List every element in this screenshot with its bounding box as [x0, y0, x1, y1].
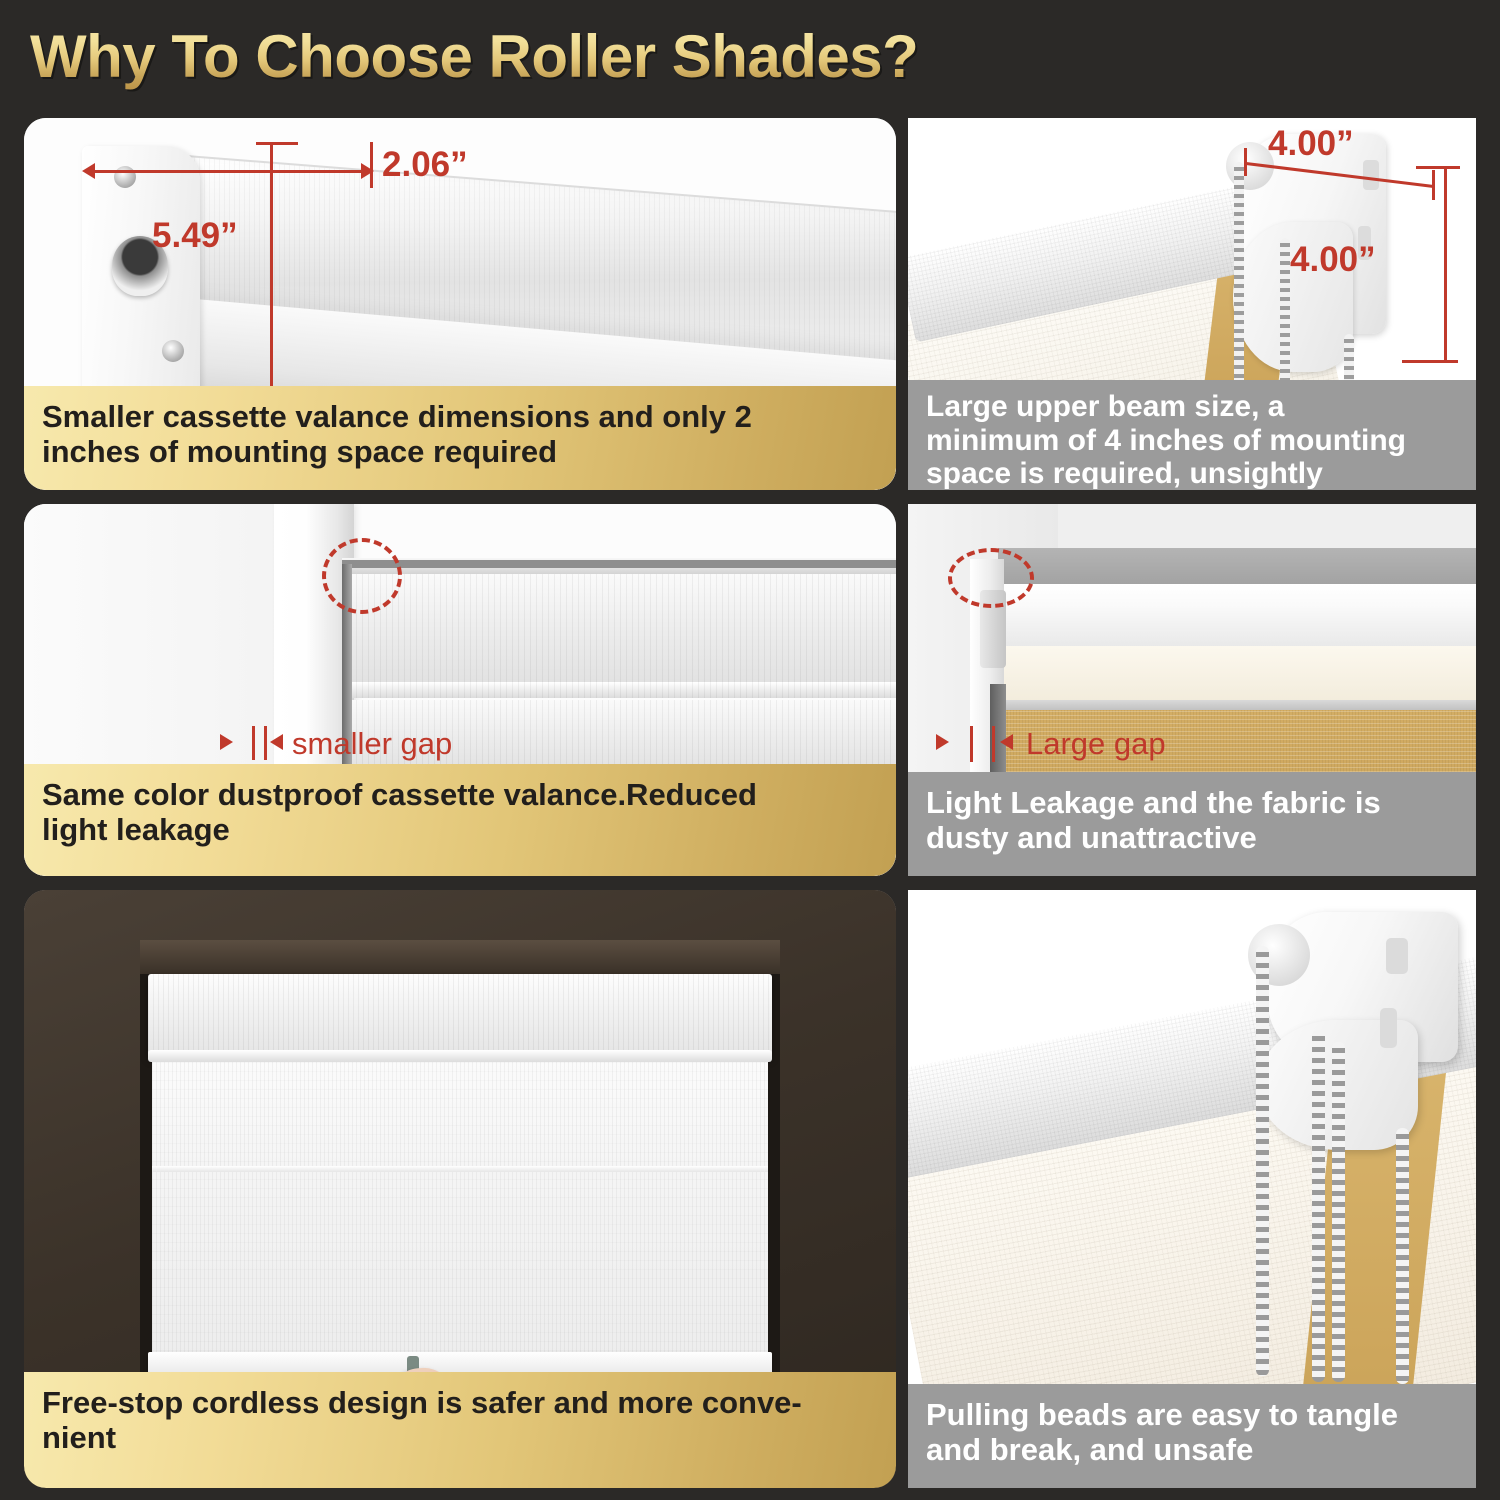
bracket-slot-icon: [1380, 1008, 1397, 1048]
gap-marker-left: [970, 726, 973, 762]
bead-chain: [1396, 1128, 1409, 1384]
panel-1-caption: Smaller cassette valance dimensions and …: [24, 386, 896, 490]
panel-3-caption-line-1: Same color dustproof cassette valance.Re…: [42, 778, 878, 813]
panel-4-caption-line-1: Light Leakage and the fabric is: [926, 786, 1458, 821]
shade-seam-line: [152, 1166, 768, 1172]
cassette-valance: [148, 974, 772, 1058]
panel-2-caption: Large upper beam size, a minimum of 4 in…: [908, 380, 1476, 490]
panel-5-caption-line-1: Free-stop cordless design is safer and m…: [42, 1386, 878, 1421]
shade-band: [350, 574, 896, 682]
panel-1-caption-line-1: Smaller cassette valance dimensions and …: [42, 400, 878, 435]
panel-6-caption: Pulling beads are easy to tangle and bre…: [908, 1384, 1476, 1488]
beam-height-label: 4.00”: [1290, 240, 1376, 280]
gap-callout-label: Large gap: [1026, 726, 1166, 762]
panel-5-card: Free-stop cordless design is safer and m…: [24, 890, 896, 1488]
gap-arrow-left-icon: [270, 734, 283, 750]
beam-height-dimension-line: [1444, 166, 1447, 362]
gap-callout-label: smaller gap: [292, 726, 452, 762]
panel-4-caption-line-2: dusty and unattractive: [926, 821, 1458, 856]
panel-5-caption-line-2: nient: [42, 1421, 878, 1456]
panel-4-caption: Light Leakage and the fabric is dusty an…: [908, 772, 1476, 876]
width-dimension-label: 2.06”: [382, 145, 468, 185]
shade-rail: [350, 682, 896, 698]
page-title: Why To Choose Roller Shades?: [30, 22, 918, 91]
width-dimension-line: [86, 170, 372, 173]
valance-shadow-line: [342, 560, 896, 568]
gap-marker-right: [992, 726, 995, 762]
gap-arrow-right-icon: [220, 734, 233, 750]
highlight-circle-icon: [322, 538, 402, 614]
panel-2-caption-line-3: space is required, unsightly: [926, 457, 1458, 490]
beam-width-tick-left: [1244, 148, 1247, 176]
panel-2-caption-line-2: minimum of 4 inches of mounting: [926, 424, 1458, 458]
screw-icon: [162, 340, 184, 362]
beam-height-tick-top: [1416, 166, 1460, 169]
panel-3-caption-line-2: light leakage: [42, 813, 878, 848]
gap-marker-left: [252, 726, 255, 760]
gap-marker-right: [264, 726, 267, 760]
window-soffit: [140, 940, 780, 974]
width-tick: [370, 142, 373, 188]
roller-shade-fabric: [152, 1062, 768, 1360]
panel-4-card: Large gap Light Leakage and the fabric i…: [908, 504, 1476, 876]
gap-arrow-right-icon: [936, 734, 949, 750]
panel-2-card: 4.00” 4.00” Large upper beam size, a min…: [908, 118, 1476, 490]
panel-3-card: smaller gap Same color dustproof cassett…: [24, 504, 896, 876]
comparison-grid: 2.06” 5.49” Smaller cassette valance dim…: [0, 118, 1500, 1500]
beam-width-tick-right: [1432, 170, 1435, 200]
beam-height-tick-bottom: [1402, 360, 1458, 363]
bracket-slot-icon: [1386, 938, 1408, 974]
height-tick-top: [256, 142, 298, 145]
panel-6-card: Pulling beads are easy to tangle and bre…: [908, 890, 1476, 1488]
bead-chain: [1312, 1030, 1325, 1382]
panel-6-caption-line-1: Pulling beads are easy to tangle: [926, 1398, 1458, 1433]
highlight-circle-icon: [948, 548, 1034, 608]
bracket-slot-icon: [1363, 160, 1379, 190]
roller-tube: [994, 584, 1476, 654]
bead-chain: [1256, 946, 1269, 1376]
width-arrow-left-icon: [82, 163, 95, 179]
panel-3-caption: Same color dustproof cassette valance.Re…: [24, 764, 896, 876]
panel-1-card: 2.06” 5.49” Smaller cassette valance dim…: [24, 118, 896, 490]
gap-arrow-left-icon: [1000, 734, 1013, 750]
panel-6-caption-line-2: and break, and unsafe: [926, 1433, 1458, 1468]
height-dimension-label: 5.49”: [152, 216, 238, 256]
bead-chain: [1332, 1042, 1345, 1382]
beam-width-label: 4.00”: [1268, 124, 1354, 164]
panel-5-caption: Free-stop cordless design is safer and m…: [24, 1372, 896, 1488]
panel-2-caption-line-1: Large upper beam size, a: [926, 390, 1458, 424]
panel-1-caption-line-2: inches of mounting space required: [42, 435, 878, 470]
valance-bar: [148, 1050, 772, 1062]
